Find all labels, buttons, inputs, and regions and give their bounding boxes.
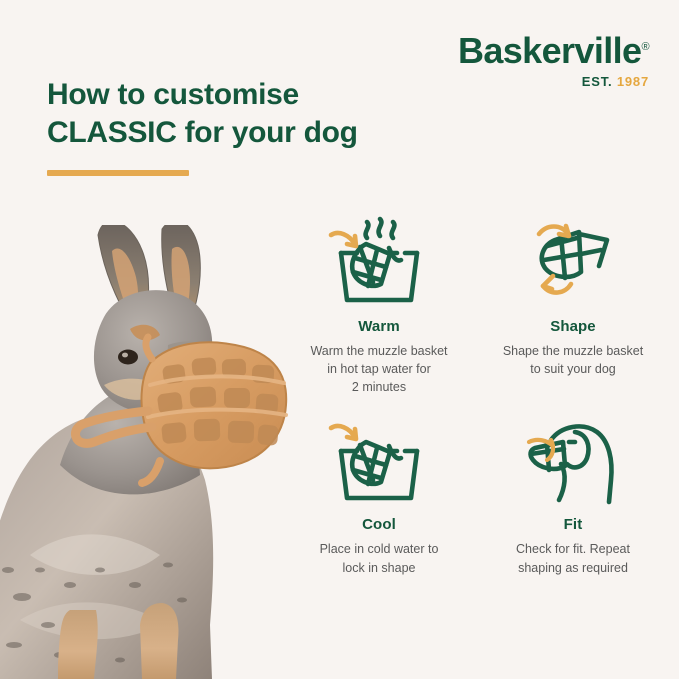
fit-icon-svg	[521, 418, 625, 514]
step-description-shape: Shape the muzzle basket to suit your dog	[480, 342, 666, 378]
dog-illustration	[0, 225, 292, 679]
warm-icon-svg	[327, 210, 431, 314]
infographic-page: Baskerville® EST. 1987 How to customise …	[0, 0, 679, 679]
arrow-top-down-icon	[539, 226, 569, 236]
steam-line-2	[379, 219, 382, 236]
dog-eye-highlight	[122, 353, 128, 358]
step-warm: Warm Warm the muzzle basket in hot tap w…	[286, 208, 472, 396]
shape-icon-svg	[521, 210, 625, 314]
basin-cold-water-icon	[286, 418, 472, 514]
headline-line-1: How to customise	[47, 78, 299, 111]
est-year: 1987	[617, 74, 649, 89]
muzzle-shape-arrows-icon	[480, 208, 666, 316]
dog-front-leg-left	[58, 610, 98, 679]
headline-line-2: CLASSIC for your dog	[47, 116, 358, 149]
basket-grid-h1	[355, 456, 386, 465]
brand-name: Baskerville®	[458, 33, 649, 69]
step-fit: Fit Check for fit. Repeat shaping as req…	[480, 418, 666, 576]
steam-line-1	[366, 222, 369, 238]
dog-head-muzzle-fit-icon	[480, 418, 666, 514]
step-cool: Cool Place in cold water to lock in shap…	[286, 418, 472, 576]
step-title-cool: Cool	[286, 516, 472, 533]
step-title-fit: Fit	[480, 516, 666, 533]
arrow-down-icon	[331, 426, 356, 439]
dog-eye	[118, 350, 138, 365]
brand-established: EST. 1987	[458, 75, 649, 88]
title-underline-rule	[47, 170, 189, 176]
basket-grid-h1	[355, 258, 386, 267]
step-description-cool: Place in cold water to lock in shape	[286, 540, 472, 576]
step-description-warm: Warm the muzzle basket in hot tap water …	[286, 342, 472, 396]
step-title-shape: Shape	[480, 318, 666, 335]
cool-icon-svg	[327, 418, 431, 514]
page-title: How to customise CLASSIC for your dog	[47, 76, 407, 153]
muzzle-strap-lower	[581, 250, 601, 254]
step-title-warm: Warm	[286, 318, 472, 335]
steam-line-3	[392, 222, 395, 238]
dog-front-leg-right	[140, 603, 178, 679]
brand-name-text: Baskerville	[458, 30, 642, 71]
step-description-fit: Check for fit. Repeat shaping as require…	[480, 540, 666, 576]
brand-logo: Baskerville® EST. 1987	[458, 33, 649, 88]
est-label: EST.	[582, 74, 613, 89]
steps-grid: Warm Warm the muzzle basket in hot tap w…	[286, 208, 666, 577]
step-shape: Shape Shape the muzzle basket to suit yo…	[480, 208, 666, 396]
registered-trademark-icon: ®	[641, 41, 649, 53]
basin-with-steam-icon	[286, 208, 472, 316]
dog-ear	[567, 432, 589, 467]
arrow-down-icon	[331, 233, 356, 246]
dog-wearing-muzzle-photo	[0, 225, 292, 679]
